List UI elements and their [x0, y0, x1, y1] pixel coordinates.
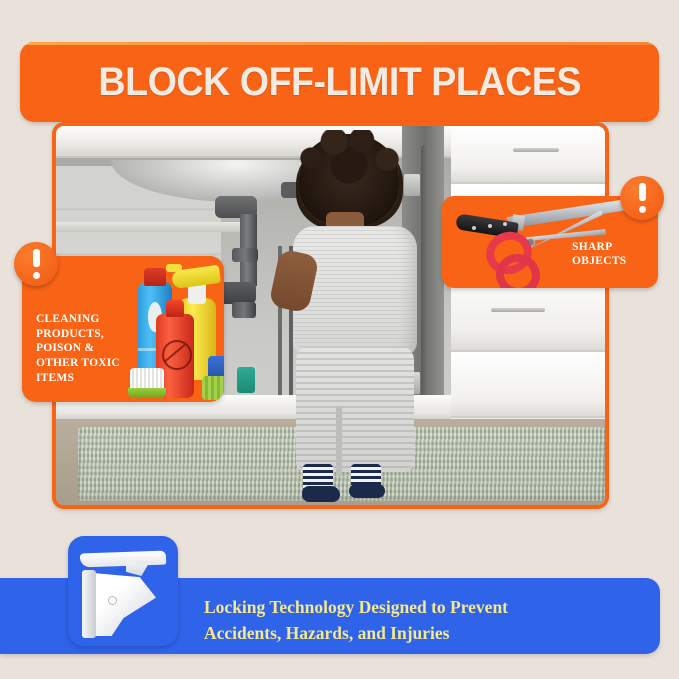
poison-bottle-cap-icon — [166, 300, 184, 317]
child-pants-texture — [296, 346, 414, 472]
page-title: BLOCK OFF-LIMIT PLACES — [98, 60, 581, 105]
child-leg-gap — [336, 406, 342, 476]
cabinet-lock-rail-icon — [82, 570, 96, 638]
header-banner: BLOCK OFF-LIMIT PLACES — [20, 42, 659, 122]
cabinet-lock-arm-icon — [80, 551, 166, 568]
exclamation-icon — [33, 249, 40, 279]
bleach-bottle-cap-icon — [144, 268, 166, 286]
warning-badge-cleaning-products — [14, 242, 58, 286]
green-sponge-icon — [202, 376, 224, 400]
poison-warning-icon — [162, 340, 192, 370]
footer-tagline-line-1: Locking Technology Designed to Prevent — [204, 594, 624, 620]
product-icon-tile — [68, 536, 178, 646]
toddler-figure — [262, 134, 416, 498]
exclamation-icon — [639, 183, 646, 213]
scrub-brush-base-icon — [128, 388, 166, 398]
pipe-collar-icon — [232, 248, 258, 262]
cabinet-door-edge — [421, 146, 429, 436]
callout-sharp-objects-label: SHARP OBJECTS — [572, 240, 646, 269]
child-curls — [296, 130, 402, 200]
cabinet-lock-screw-icon — [108, 596, 117, 605]
child-foot — [349, 484, 385, 498]
cabinet-shelf — [56, 222, 243, 232]
drawer-handle-icon — [513, 148, 559, 152]
drawer — [451, 352, 605, 418]
drawer — [451, 126, 605, 184]
footer-tagline-line-2: Accidents, Hazards, and Injuries — [204, 620, 624, 646]
teal-bottle-icon — [237, 367, 255, 393]
warning-badge-sharp-objects — [620, 176, 664, 220]
knife-icon — [506, 198, 637, 229]
drawer-handle-icon — [491, 308, 545, 312]
knife-rivet-icon — [488, 224, 492, 228]
knife-rivet-icon — [503, 222, 507, 226]
footer-tagline: Locking Technology Designed to Prevent A… — [204, 594, 624, 647]
spray-nozzle-icon — [166, 264, 182, 272]
callout-cleaning-products-label: CLEANING PRODUCTS, POISON & OTHER TOXIC … — [36, 312, 136, 386]
child-foot — [302, 486, 340, 502]
infographic-stage: BLOCK OFF-LIMIT PLACES — [0, 0, 679, 679]
pipe-bottom-icon — [232, 302, 256, 318]
knife-rivet-icon — [472, 226, 476, 230]
